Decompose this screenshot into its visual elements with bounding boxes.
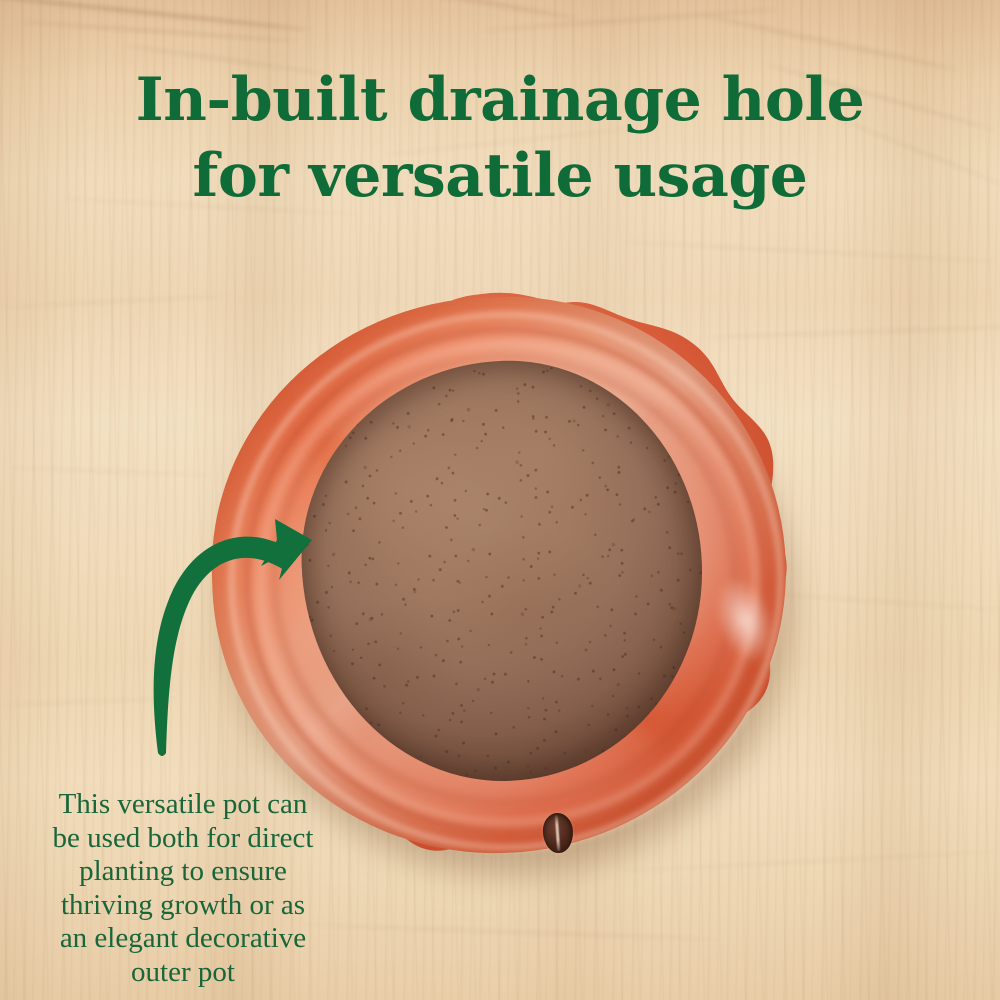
caption-line-6: outer pot — [8, 956, 358, 990]
caption-line-5: an elegant decorative — [8, 922, 358, 956]
caption-line-1: This versatile pot can — [8, 788, 358, 822]
page-title: In-built drainage hole for versatile usa… — [0, 62, 1000, 214]
caption-line-2: be used both for direct — [8, 822, 358, 856]
caption-line-4: thriving growth or as — [8, 889, 358, 923]
terracotta-pot — [198, 285, 802, 875]
feature-caption: This versatile pot can be used both for … — [8, 788, 358, 989]
headline-line-2: for versatile usage — [0, 138, 1000, 214]
pot-clay-interior — [295, 354, 709, 788]
headline-line-1: In-built drainage hole — [0, 62, 1000, 138]
clay-speckles — [295, 354, 709, 788]
caption-line-3: planting to ensure — [8, 855, 358, 889]
feature-image-canvas: In-built drainage hole for versatile usa… — [0, 0, 1000, 1000]
